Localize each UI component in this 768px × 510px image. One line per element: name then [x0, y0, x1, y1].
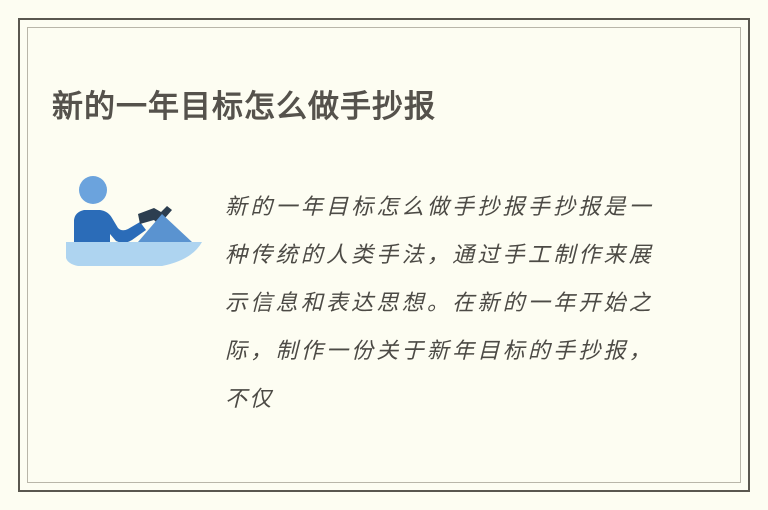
article-page: 新的一年目标怎么做手抄报 新的一年目标怎么做手抄报手抄报是一种传统的人类手法，通…: [0, 0, 768, 510]
article-content: 新的一年目标怎么做手抄报 新的一年目标怎么做手抄报手抄报是一种传统的人类手法，通…: [27, 27, 741, 483]
article-paragraph: 新的一年目标怎么做手抄报手抄报是一种传统的人类手法，通过手工制作来展示信息和表达…: [225, 184, 653, 429]
person-rowing-boat-illustration: [66, 172, 206, 272]
article-body: 新的一年目标怎么做手抄报手抄报是一种传统的人类手法，通过手工制作来展示信息和表达…: [27, 157, 741, 437]
page-title: 新的一年目标怎么做手抄报: [52, 87, 436, 127]
